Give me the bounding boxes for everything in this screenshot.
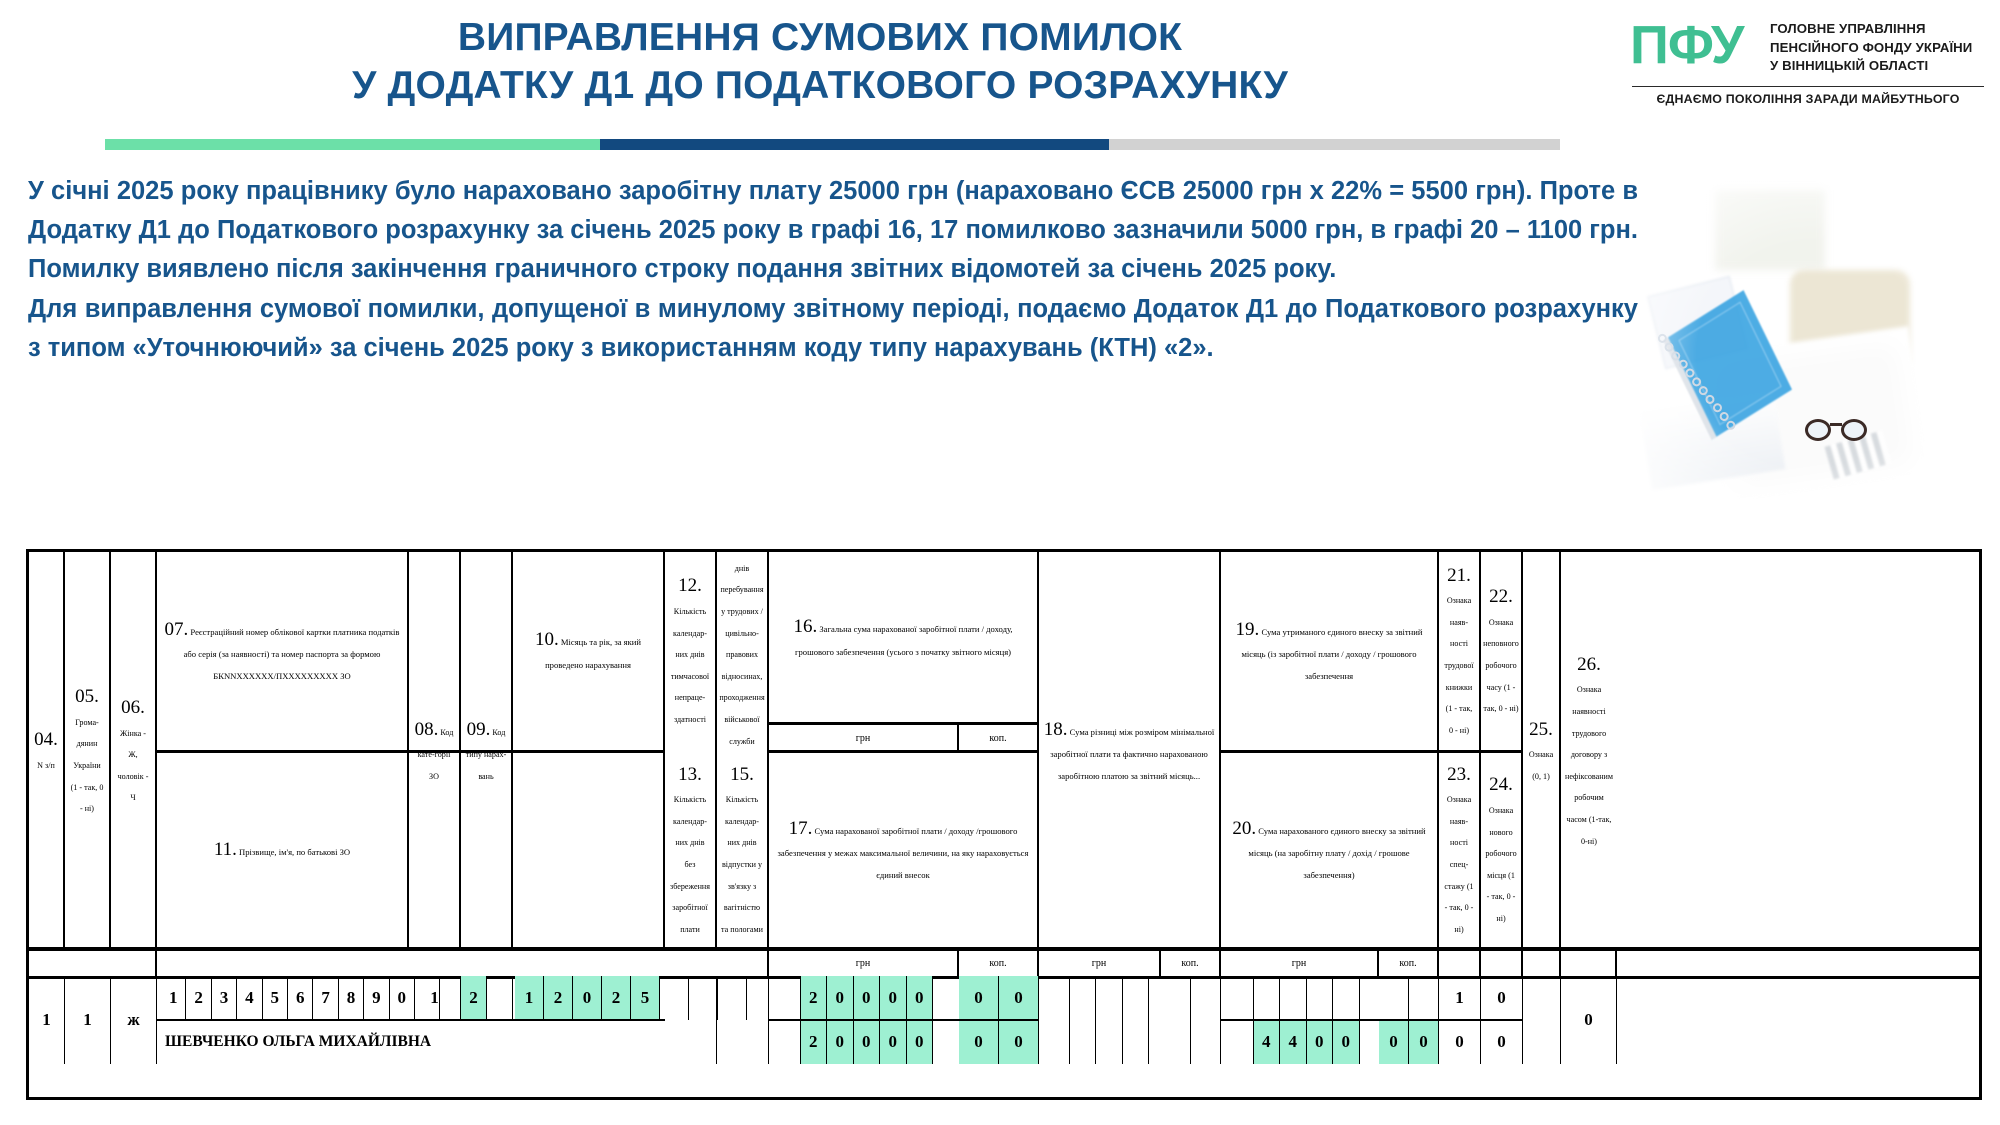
column-label-c24: Ознака нового робочого місця (1 - так, 0… (1485, 806, 1516, 923)
header-cell-c20: 20. Сума нарахованого єдиного внеску за … (1221, 750, 1439, 950)
spiral-binding-shape (1656, 281, 1809, 438)
data-cell-taxid-digit-1: 1 (161, 976, 186, 1020)
data-cell-c16-grn-box-6: 0 (907, 976, 934, 1020)
data-cell-c19-kop-box-1 (1379, 976, 1409, 1020)
data-cell-c18-grn-box-3 (1096, 976, 1123, 1064)
unit-label-kop-c16: коп. (959, 725, 1039, 751)
data-cell-c19-grn-box-3 (1280, 976, 1307, 1020)
data-cell-taxid-digit-7: 7 (313, 976, 338, 1020)
data-cell-c10-digit-3: 0 (573, 976, 602, 1020)
data-cell-c22: 0 (1481, 976, 1523, 1020)
column-number-c09: 09. (467, 719, 491, 740)
table-rule (1221, 1019, 1439, 1021)
data-cell-c18-grn-box-2 (1070, 976, 1097, 1064)
data-cell-c17-grn-box-4: 0 (854, 1020, 881, 1064)
unit-cell-c25 (1523, 950, 1561, 976)
table-rule (157, 1019, 665, 1021)
data-cell-c20-grn-box-4: 0 (1307, 1020, 1334, 1064)
header-cell-c19: 19. Сума утриманого єдиного внеску за зв… (1221, 552, 1439, 750)
header-cell-c04: 04. N з/п (29, 552, 65, 950)
column-number-c08: 08. (415, 719, 439, 740)
d1-appendix-table: 04. N з/п05. Грома-дянин України (1 - та… (26, 549, 1982, 1100)
unit-cell-c19-kop: коп. (1379, 950, 1439, 976)
data-cell-taxid-digit-2: 2 (186, 976, 211, 1020)
column-number-c18: 18. (1044, 719, 1068, 740)
header-cell-c14: 14. Кількість календарних днів перебуван… (717, 552, 769, 750)
column-number-c06: 06. (121, 697, 145, 718)
column-label-c11: Прізвище, ім'я, по батькові ЗО (237, 847, 350, 857)
unit-cell-c16-kop: коп. (959, 950, 1039, 976)
pfu-logo-org: ГОЛОВНЕ УПРАВЛІННЯ ПЕНСІЙНОГО ФОНДУ УКРА… (1770, 20, 1992, 76)
data-cell-c20-grn-box-3: 4 (1280, 1020, 1307, 1064)
header-cell-c07: 07. Реєстраційний номер облікової картки… (157, 552, 409, 750)
column-label-c04: N з/п (37, 761, 55, 770)
data-cell-c17-grn-box-5: 0 (880, 1020, 907, 1064)
column-number-c25: 25. (1529, 719, 1553, 740)
data-cell-c24: 0 (1481, 1020, 1523, 1064)
column-number-c12: 12. (678, 575, 702, 596)
data-cell-c06: ж (111, 976, 157, 1064)
office-photo-decoration (1600, 150, 2000, 550)
column-number-c16: 16. (793, 616, 817, 637)
data-cell-c17-grn-box-6: 0 (907, 1020, 934, 1064)
data-cell-c16-grn-box-3: 0 (827, 976, 854, 1020)
data-cell-c10-digit-5: 5 (631, 976, 660, 1020)
column-label-c22: Ознака неповного робочого часу (1 - так,… (1483, 618, 1519, 713)
accent-bar-segment-2 (600, 139, 1109, 150)
column-number-c26: 26. (1577, 654, 1601, 675)
data-cell-taxid-digit-8: 8 (339, 976, 364, 1020)
unit-cell-c26 (1561, 950, 1617, 976)
data-cell-c16-grn-box-5: 0 (880, 976, 907, 1020)
pfu-logo-slogan: ЄДНАЄМО ПОКОЛІННЯ ЗАРАДИ МАЙБУТНЬОГО (1630, 92, 1986, 106)
column-number-c23: 23. (1447, 764, 1471, 785)
header-cell-c26: 26. Ознака наявності трудового договору … (1561, 552, 1617, 950)
desk-shape (1701, 326, 1930, 504)
data-cell-taxid-digit-6: 6 (288, 976, 313, 1020)
header-cell-c16: 16. Загальна сума нарахованої заробітної… (769, 552, 1039, 724)
column-number-c19: 19. (1236, 619, 1260, 640)
data-cell-c18-grn-box-1 (1043, 976, 1070, 1064)
header-cell-c17: 17. Сума нарахованої заробітної плати / … (769, 750, 1039, 950)
data-cell-c23: 0 (1439, 1020, 1481, 1064)
logo-divider (1632, 86, 1984, 87)
column-number-c10: 10. (535, 629, 559, 650)
accent-bar-segment-3 (1109, 139, 1560, 150)
column-number-c22: 22. (1489, 586, 1513, 607)
column-label-c07: Реєстраційний номер облікової картки пла… (184, 627, 400, 681)
data-cell-c17-grn-box-3: 0 (827, 1020, 854, 1064)
header-cell-c09: 09. Код типу нарах-вань (461, 552, 513, 950)
table-rule (1439, 750, 1523, 753)
accent-bar-segment-1 (105, 139, 600, 150)
data-cell-c05: 1 (65, 976, 111, 1064)
column-label-c17: Сума нарахованої заробітної плати / дохо… (778, 826, 1029, 880)
unit-cell-blank-mid (157, 950, 769, 976)
header-cell-c10-spacer (513, 750, 665, 950)
data-cell-c20-grn-box-1 (1227, 1020, 1254, 1064)
column-label-c13: Кількість календар-них днів без збережен… (670, 795, 710, 934)
column-number-c20: 20. (1232, 818, 1256, 839)
unit-label-grn-c16: грн (769, 725, 959, 751)
column-label-c10: Місяць та рік, за який проведено нарахув… (545, 637, 641, 670)
table-rule (769, 1019, 1039, 1021)
header-cell-c22: 22. Ознака неповного робочого часу (1 - … (1481, 552, 1523, 750)
column-number-c07: 07. (165, 619, 189, 640)
header-cell-c13: 13. Кількість календар-них днів без збер… (665, 750, 717, 950)
column-label-c14: Кількість календарних днів перебування у… (719, 552, 764, 750)
data-cell-c25 (1523, 976, 1561, 1064)
data-cell-c19-grn-box-5 (1333, 976, 1360, 1020)
page-title-line-2: У ДОДАТКУ Д1 ДО ПОДАТКОВОГО РОЗРАХУНКУ (0, 62, 1640, 110)
header-cell-c11: 11. Прізвище, ім'я, по батькові ЗО (157, 750, 409, 950)
pfu-logo: ПФУ ГОЛОВНЕ УПРАВЛІННЯ ПЕНСІЙНОГО ФОНДУ … (1630, 14, 1990, 114)
data-cell-c14 (717, 976, 769, 1064)
papers-shape (1640, 390, 1786, 490)
data-cell-c09-ktn: 2 (461, 976, 487, 1020)
data-cell-c10-digit-1: 1 (515, 976, 544, 1020)
column-label-c23: Ознака наяв-ності спец-стажу (1 - так, 0… (1444, 795, 1473, 934)
data-cell-c19-grn-box-2 (1254, 976, 1281, 1020)
data-cell-taxid-digit-3: 3 (212, 976, 237, 1020)
data-cell-c16-kop-box-2: 0 (999, 976, 1039, 1020)
data-cell-c18-kop-box-2 (1191, 976, 1221, 1064)
column-number-c05: 05. (75, 686, 99, 707)
header-cell-c12: 12. Кількість календар-них днів тимчасов… (665, 552, 717, 750)
pfu-logo-org-line-2: ПЕНСІЙНОГО ФОНДУ УКРАЇНИ (1770, 39, 1992, 58)
header-cell-c24: 24. Ознака нового робочого місця (1 - та… (1481, 750, 1523, 950)
chair-shape (1790, 270, 1910, 365)
header-cell-c23: 23. Ознака наяв-ності спец-стажу (1 - та… (1439, 750, 1481, 950)
table-rule (1221, 750, 1439, 753)
unit-cell-c22 (1481, 950, 1523, 976)
page-title: ВИПРАВЛЕННЯ СУМОВИХ ПОМИЛОК У ДОДАТКУ Д1… (0, 14, 1640, 109)
column-label-c26: Ознака наявності трудового договору з не… (1565, 685, 1613, 845)
column-label-c12: Кількість календар-них днів тимчасової н… (671, 607, 709, 724)
column-label-c05: Грома-дянин України (1 - так, 0 - ні) (71, 718, 104, 813)
column-number-c13: 13. (678, 764, 702, 785)
column-label-c19: Сума утриманого єдиного внеску за звітни… (1241, 627, 1422, 681)
header-cell-c15: 15. Кількість календар-них днів відпустк… (717, 750, 769, 950)
unit-cell-c16-grn: грн (769, 950, 959, 976)
data-cell-c19-grn-box-4 (1307, 976, 1334, 1020)
column-label-c15: Кількість календар-них днів відпустки у … (721, 795, 763, 934)
column-label-c18: Сума різниці між розміром мінімальної за… (1050, 727, 1214, 781)
unit-cell-c18-grn: грн (1039, 950, 1161, 976)
unit-cell-c21 (1439, 950, 1481, 976)
data-cell-c20-kop-box-1: 0 (1379, 1020, 1409, 1064)
data-cell-c16-grn-box-4: 0 (854, 976, 881, 1020)
data-cell-c19-grn-box-1 (1227, 976, 1254, 1020)
data-cell-c26: 0 (1561, 976, 1617, 1064)
data-cell-c04: 1 (29, 976, 65, 1064)
column-number-c11: 11. (214, 839, 237, 860)
pfu-logo-org-line-1: ГОЛОВНЕ УПРАВЛІННЯ (1770, 20, 1992, 39)
column-number-c24: 24. (1489, 774, 1513, 795)
table-rule (1439, 1019, 1523, 1021)
body-text: У січні 2025 року працівнику було нарахо… (28, 172, 1638, 370)
keyboard-shape (1824, 430, 1891, 479)
column-number-c21: 21. (1447, 565, 1471, 586)
column-label-c21: Ознака наяв-ності трудової книжки (1 - т… (1444, 596, 1473, 735)
data-cell-c12 (665, 976, 717, 1064)
glasses-icon (1805, 415, 1867, 441)
data-cell-c20-grn-box-2: 4 (1254, 1020, 1281, 1064)
data-cell-c17-grn-box-1 (774, 1020, 801, 1064)
data-cell-c18-kop-box-1 (1161, 976, 1191, 1064)
header-cell-c05: 05. Грома-дянин України (1 - так, 0 - ні… (65, 552, 111, 950)
data-cell-c17-kop-box-2: 0 (999, 1020, 1039, 1064)
data-cell-c10-digit-2: 2 (544, 976, 573, 1020)
open-book-shape (1647, 276, 1748, 369)
accent-bar (105, 139, 1560, 150)
header-cell-c18: 18. Сума різниці між розміром мінімально… (1039, 552, 1221, 950)
column-number-c15: 15. (730, 764, 754, 785)
data-cell-c18-grn-box-4 (1123, 976, 1150, 1064)
header-cell-c21: 21. Ознака наяв-ності трудової книжки (1… (1439, 552, 1481, 750)
data-cell-c10-digit-4: 2 (602, 976, 631, 1020)
unit-cell-c19-grn: грн (1221, 950, 1379, 976)
unit-cell-c18-kop: коп. (1161, 950, 1221, 976)
column-label-c06: Жінка - Ж, чоловік - Ч (118, 729, 149, 803)
column-number-c04: 04. (34, 729, 58, 750)
data-cell-c08: 1 (409, 976, 461, 1020)
data-cell-c16-grn-box-1 (774, 976, 801, 1020)
pfu-logo-org-line-3: У ВІННИЦЬКІЙ ОБЛАСТІ (1770, 57, 1992, 76)
column-label-c25: Ознака (0, 1) (1529, 750, 1553, 781)
monitor-shape (1715, 190, 1825, 270)
data-cell-c17-kop-box-1: 0 (959, 1020, 999, 1064)
data-cell-c20-grn-box-5: 0 (1333, 1020, 1360, 1064)
column-label-c16: Загальна сума нарахованої заробітної пла… (795, 624, 1013, 657)
data-cell-full-name: ШЕВЧЕНКО ОЛЬГА МИХАЙЛІВНА (161, 1020, 663, 1064)
data-cell-c16-grn-box-2: 2 (801, 976, 828, 1020)
body-paragraph-1: У січні 2025 року працівнику було нарахо… (28, 172, 1638, 288)
data-cell-c19-kop-box-2 (1409, 976, 1439, 1020)
data-cell-c21: 1 (1439, 976, 1481, 1020)
photo-fade-overlay (1580, 130, 2000, 580)
header-cell-c10: 10. Місяць та рік, за який проведено нар… (513, 552, 665, 750)
unit-cell-blank-left (29, 950, 157, 976)
column-number-c17: 17. (789, 818, 813, 839)
data-cell-c16-kop-box-1: 0 (959, 976, 999, 1020)
data-cell-taxid-digit-9: 9 (364, 976, 389, 1020)
header-cell-c06: 06. Жінка - Ж, чоловік - Ч (111, 552, 157, 950)
pfu-logo-mark: ПФУ (1630, 18, 1743, 72)
data-cell-c09-blank (487, 976, 513, 1020)
data-cell-c17-grn-box-2: 2 (801, 1020, 828, 1064)
column-label-c20: Сума нарахованого єдиного внеску за звіт… (1248, 826, 1425, 880)
data-cell-c20-kop-box-2: 0 (1409, 1020, 1439, 1064)
page-title-line-1: ВИПРАВЛЕННЯ СУМОВИХ ПОМИЛОК (0, 14, 1640, 62)
data-cell-taxid-digit-4: 4 (237, 976, 262, 1020)
header-cell-c08: 08. Код кате-горії ЗО (409, 552, 461, 950)
data-cell-taxid-digit-5: 5 (263, 976, 288, 1020)
blue-notebook-shape (1663, 290, 1792, 440)
header-cell-c25: 25. Ознака (0, 1) (1523, 552, 1561, 950)
body-paragraph-2: Для виправлення сумової помилки, допущен… (28, 290, 1638, 368)
